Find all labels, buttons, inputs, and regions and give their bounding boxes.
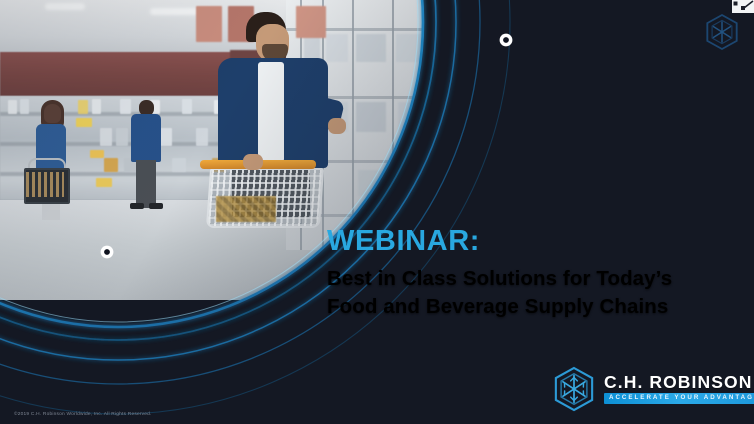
title-block: WEBINAR: Best in Class Solutions for Tod… bbox=[327, 226, 727, 320]
arc-node-top bbox=[500, 34, 513, 47]
cursor-artifact-icon[interactable] bbox=[732, 0, 754, 18]
ch-robinson-logo: C.H. ROBINSON ACCELERATE YOUR ADVANTAGE® bbox=[553, 366, 754, 412]
photo-arc-mask bbox=[0, 0, 754, 424]
photo-freezer-goods bbox=[398, 170, 432, 196]
webinar-subtitle-line-1: Best in Class Solutions for Today’s bbox=[327, 265, 727, 292]
logo-tagline-bar: ACCELERATE YOUR ADVANTAGE® bbox=[604, 393, 754, 404]
hexagon-watermark-icon bbox=[705, 13, 739, 51]
copyright-notice: ©2019 C.H. Robinson Worldwide, Inc. All … bbox=[14, 412, 152, 417]
photo-freezer-door-edge bbox=[438, 0, 440, 250]
logo-tagline: ACCELERATE YOUR ADVANTAGE® bbox=[609, 395, 754, 401]
photo-freezer-goods bbox=[442, 102, 468, 132]
photo-freezer-goods bbox=[440, 34, 468, 62]
webinar-title-slide: WEBINAR: Best in Class Solutions for Tod… bbox=[0, 0, 754, 424]
logo-text-group: C.H. ROBINSON ACCELERATE YOUR ADVANTAGE® bbox=[604, 374, 754, 404]
ch-robinson-hexagon-icon bbox=[553, 366, 595, 412]
logo-wordmark: C.H. ROBINSON bbox=[604, 374, 754, 392]
webinar-kicker: WEBINAR: bbox=[327, 226, 727, 256]
photo-freezer-goods bbox=[442, 170, 468, 196]
webinar-subtitle-line-2: Food and Beverage Supply Chains bbox=[327, 293, 727, 320]
